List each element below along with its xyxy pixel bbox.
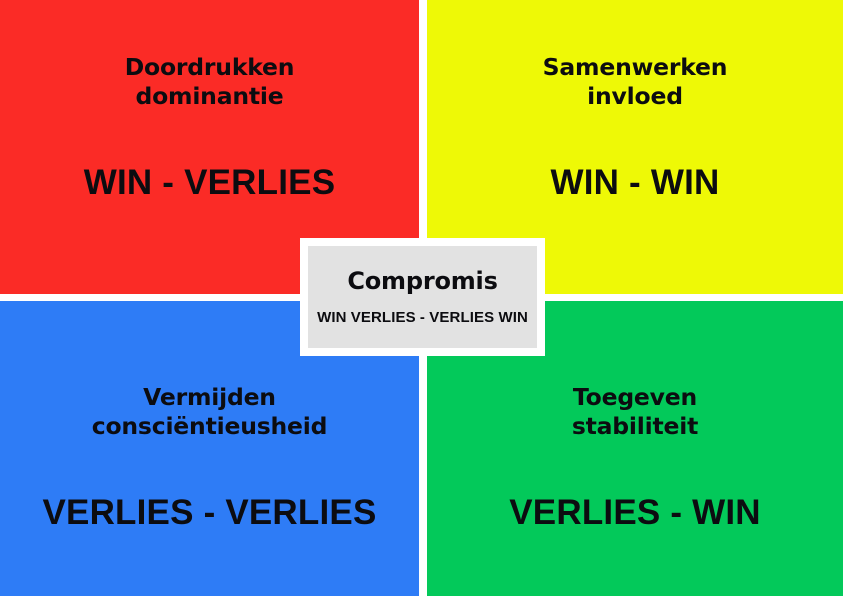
quadrant-heading-vermijden: Vermijden consciëntieusheid	[92, 383, 328, 441]
center-card-inner: Compromis WIN VERLIES - VERLIES WIN	[308, 246, 537, 348]
quadrant-outcome-toegeven: VERLIES - WIN	[509, 493, 761, 533]
quadrant-outcome-doordrukken: WIN - VERLIES	[84, 163, 336, 203]
center-title: Compromis	[347, 267, 497, 295]
quadrant-outcome-vermijden: VERLIES - VERLIES	[42, 493, 376, 533]
center-card-compromis[interactable]: Compromis WIN VERLIES - VERLIES WIN	[300, 238, 545, 356]
quadrant-heading-toegeven: Toegeven stabiliteit	[572, 383, 698, 441]
quadrant-heading-doordrukken: Doordrukken dominantie	[125, 53, 295, 111]
quadrant-heading-samenwerken: Samenwerken invloed	[543, 53, 728, 111]
conflict-matrix: Doordrukken dominantie WIN - VERLIES Sam…	[0, 0, 843, 596]
center-subtitle: WIN VERLIES - VERLIES WIN	[317, 309, 528, 327]
quadrant-outcome-samenwerken: WIN - WIN	[551, 163, 720, 203]
